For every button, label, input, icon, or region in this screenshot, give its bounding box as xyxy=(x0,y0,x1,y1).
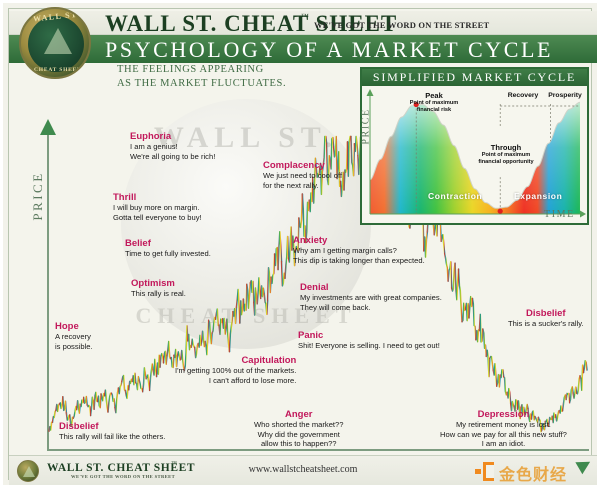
annotation-line-optimism-1: This rally is real. xyxy=(131,289,186,299)
price-segment xyxy=(289,227,292,262)
price-segment xyxy=(108,393,111,412)
inset-trough-title: Through xyxy=(491,143,521,152)
price-segment xyxy=(268,268,271,300)
annotation-anxiety: AnxietyWhy am I getting margin calls?Thi… xyxy=(293,235,425,265)
annotation-disbelief-left: DisbeliefThis rally will fail like the o… xyxy=(59,421,165,442)
price-segment xyxy=(216,309,219,325)
annotation-denial: DenialMy investments are with great comp… xyxy=(300,282,442,312)
price-segment xyxy=(243,284,246,311)
annotation-title-anxiety: Anxiety xyxy=(293,235,425,246)
publisher-watermark: 金色财经 xyxy=(475,458,593,484)
annotation-line-depression-2: How can we pay for all this new stuff? xyxy=(440,430,567,440)
price-segment xyxy=(354,137,357,156)
annotation-title-hope: Hope xyxy=(55,321,93,332)
annotation-anger: AngerWho shorted the market??Why did the… xyxy=(254,409,343,449)
price-segment xyxy=(56,404,59,411)
annotation-line-complacency-2: for the next rally. xyxy=(263,181,342,191)
price-segment xyxy=(584,361,587,373)
annotation-title-optimism: Optimism xyxy=(131,278,186,289)
price-segment xyxy=(84,396,87,404)
inset-price-axis-label: PRICE xyxy=(361,108,372,144)
price-segment xyxy=(257,278,260,304)
annotation-title-belief: Belief xyxy=(125,238,211,249)
inset-expansion-band-label: Expansion xyxy=(514,191,562,201)
watermark-square-icon xyxy=(475,462,494,481)
price-segment xyxy=(205,320,208,354)
inset-trough-note-1: Point of maximum xyxy=(458,152,554,159)
price-segment xyxy=(118,381,121,393)
annotation-title-panic: Panic xyxy=(298,330,440,341)
annotation-title-complacency: Complacency xyxy=(263,160,342,171)
inset-trough-note-2: financial opportunity xyxy=(458,159,554,166)
annotation-line-capitulation-1: I'm getting 100% out of the markets. xyxy=(175,366,296,376)
price-segment xyxy=(229,312,232,352)
annotation-line-depression-3: I am an idiot. xyxy=(440,439,567,449)
annotation-line-complacency-1: We just need to cool off xyxy=(263,171,342,181)
price-segment xyxy=(202,331,205,346)
inset-contraction-band-label: Contraction xyxy=(428,191,482,201)
price-segment xyxy=(351,137,354,176)
annotation-title-depression: Depression xyxy=(440,409,567,420)
annotation-line-hope-2: is possible. xyxy=(55,342,93,352)
price-segment xyxy=(63,397,66,413)
annotation-line-thrill-1: I will buy more on margin. xyxy=(113,203,202,213)
price-segment xyxy=(282,262,285,286)
price-segment xyxy=(580,365,583,390)
annotation-line-anxiety-2: This dip is taking longer than expected. xyxy=(293,256,425,266)
price-segment xyxy=(570,387,573,403)
annotation-line-denial-2: They will come back. xyxy=(300,303,442,313)
annotation-complacency: ComplacencyWe just need to cool offfor t… xyxy=(263,160,342,190)
price-segment xyxy=(49,422,52,431)
price-segment xyxy=(226,319,229,352)
annotation-title-denial: Denial xyxy=(300,282,442,293)
annotation-line-panic-1: Shit! Everyone is selling. I need to get… xyxy=(298,341,440,351)
annotation-title-capitulation: Capitulation xyxy=(175,355,296,366)
price-segment xyxy=(77,401,80,413)
annotation-depression: DepressionMy retirement money is lost.Ho… xyxy=(440,409,567,449)
price-segment xyxy=(462,303,465,321)
annotation-line-capitulation-2: I can't afford to lose more. xyxy=(175,376,296,386)
annotation-thrill: ThrillI will buy more on margin.Gotta te… xyxy=(113,192,202,222)
price-segment xyxy=(441,235,444,254)
price-segment xyxy=(490,357,493,371)
price-segment xyxy=(247,283,250,308)
annotation-optimism: OptimismThis rally is real. xyxy=(131,278,186,299)
price-segment xyxy=(299,194,302,227)
price-segment xyxy=(493,364,496,386)
price-segment xyxy=(164,351,167,364)
price-segment xyxy=(209,320,212,343)
price-segment xyxy=(507,389,510,403)
inset-peak-note-2: financial risk xyxy=(390,107,478,114)
price-segment xyxy=(136,377,139,390)
price-segment xyxy=(271,254,274,283)
price-segment xyxy=(486,350,489,376)
annotation-line-thrill-2: Gotta tell everyone to buy! xyxy=(113,213,202,223)
annotation-title-anger: Anger xyxy=(254,409,343,420)
annotation-line-anger-2: Why did the government xyxy=(254,430,343,440)
annotation-line-hope-1: A recovery xyxy=(55,332,93,342)
watermark-arrow-icon xyxy=(575,456,593,475)
inset-peak-label: Peak Point of maximum financial risk xyxy=(390,91,478,114)
annotation-line-anger-1: Who shorted the market?? xyxy=(254,420,343,430)
price-segment xyxy=(240,299,243,323)
price-segment xyxy=(472,298,475,339)
price-segment xyxy=(483,329,486,356)
inset-trough-marker xyxy=(498,209,503,214)
infographic-page: WALL ST. CHEAT SHEET ™ WE'VE GOT THE WOR… xyxy=(0,0,600,488)
annotation-line-anger-3: allow this to happen?? xyxy=(254,439,343,449)
price-segment xyxy=(577,376,580,394)
annotation-disbelief-right: DisbeliefThis is a sucker's rally. xyxy=(508,308,584,329)
annotation-line-denial-1: My investments are with great companies. xyxy=(300,293,442,303)
price-segment xyxy=(497,375,500,387)
price-segment xyxy=(212,318,215,334)
annotation-line-belief-1: Time to get fully invested. xyxy=(125,249,211,259)
price-segment xyxy=(143,368,146,392)
inset-prosperity-label: Prosperity xyxy=(542,91,588,100)
annotation-belief: BeliefTime to get fully invested. xyxy=(125,238,211,259)
price-segment xyxy=(448,262,451,288)
annotation-title-disbelief-left: Disbelief xyxy=(59,421,165,432)
price-segment xyxy=(250,281,253,303)
inset-peak-title: Peak xyxy=(425,91,443,100)
price-segment xyxy=(445,254,448,282)
simplified-market-cycle-inset: SIMPLIFIED MARKET CYCLE xyxy=(360,67,589,225)
watermark-text: 金色财经 xyxy=(499,461,567,485)
price-segment xyxy=(261,286,264,299)
annotation-hope: HopeA recoveryis possible. xyxy=(55,321,93,351)
price-segment xyxy=(150,364,153,390)
annotation-line-euphoria-2: We're all going to be rich! xyxy=(130,152,215,162)
price-segment xyxy=(459,269,462,322)
inset-recovery-label: Recovery xyxy=(502,91,544,100)
price-segment xyxy=(233,307,236,323)
price-segment xyxy=(111,393,114,407)
annotation-line-depression-1: My retirement money is lost. xyxy=(440,420,567,430)
price-segment xyxy=(167,341,170,358)
price-segment xyxy=(115,388,118,413)
footer: WALL ST. CHEAT SHEET ™ WE'VE GOT THE WOR… xyxy=(9,455,597,485)
inset-trough-label: Through Point of maximum financial oppor… xyxy=(458,143,554,166)
annotation-line-euphoria-1: I am a genius! xyxy=(130,142,215,152)
annotation-title-thrill: Thrill xyxy=(113,192,202,203)
annotation-line-disbelief-right-1: This is a sucker's rally. xyxy=(508,319,584,329)
price-segment xyxy=(170,355,173,367)
price-segment xyxy=(98,394,101,408)
price-segment xyxy=(52,410,55,422)
inset-time-axis-label: TIME xyxy=(544,209,575,220)
annotation-line-disbelief-left-1: This rally will fail like the others. xyxy=(59,432,165,442)
price-segment xyxy=(122,375,125,390)
price-segment xyxy=(105,390,108,412)
annotation-euphoria: EuphoriaI am a genius!We're all going to… xyxy=(130,131,215,161)
price-segment xyxy=(476,330,479,342)
annotation-capitulation: CapitulationI'm getting 100% out of the … xyxy=(175,355,296,385)
inset-title: SIMPLIFIED MARKET CYCLE xyxy=(362,70,587,85)
price-segment xyxy=(191,339,194,347)
annotation-title-euphoria: Euphoria xyxy=(130,131,215,142)
annotation-line-anxiety-1: Why am I getting margin calls? xyxy=(293,246,425,256)
price-segment xyxy=(285,236,288,278)
inset-peak-note-1: Point of maximum xyxy=(390,100,478,107)
price-segment xyxy=(566,393,569,402)
price-segment xyxy=(479,314,482,342)
annotation-panic: PanicShit! Everyone is selling. I need t… xyxy=(298,330,440,351)
annotation-title-disbelief-right: Disbelief xyxy=(508,308,584,319)
